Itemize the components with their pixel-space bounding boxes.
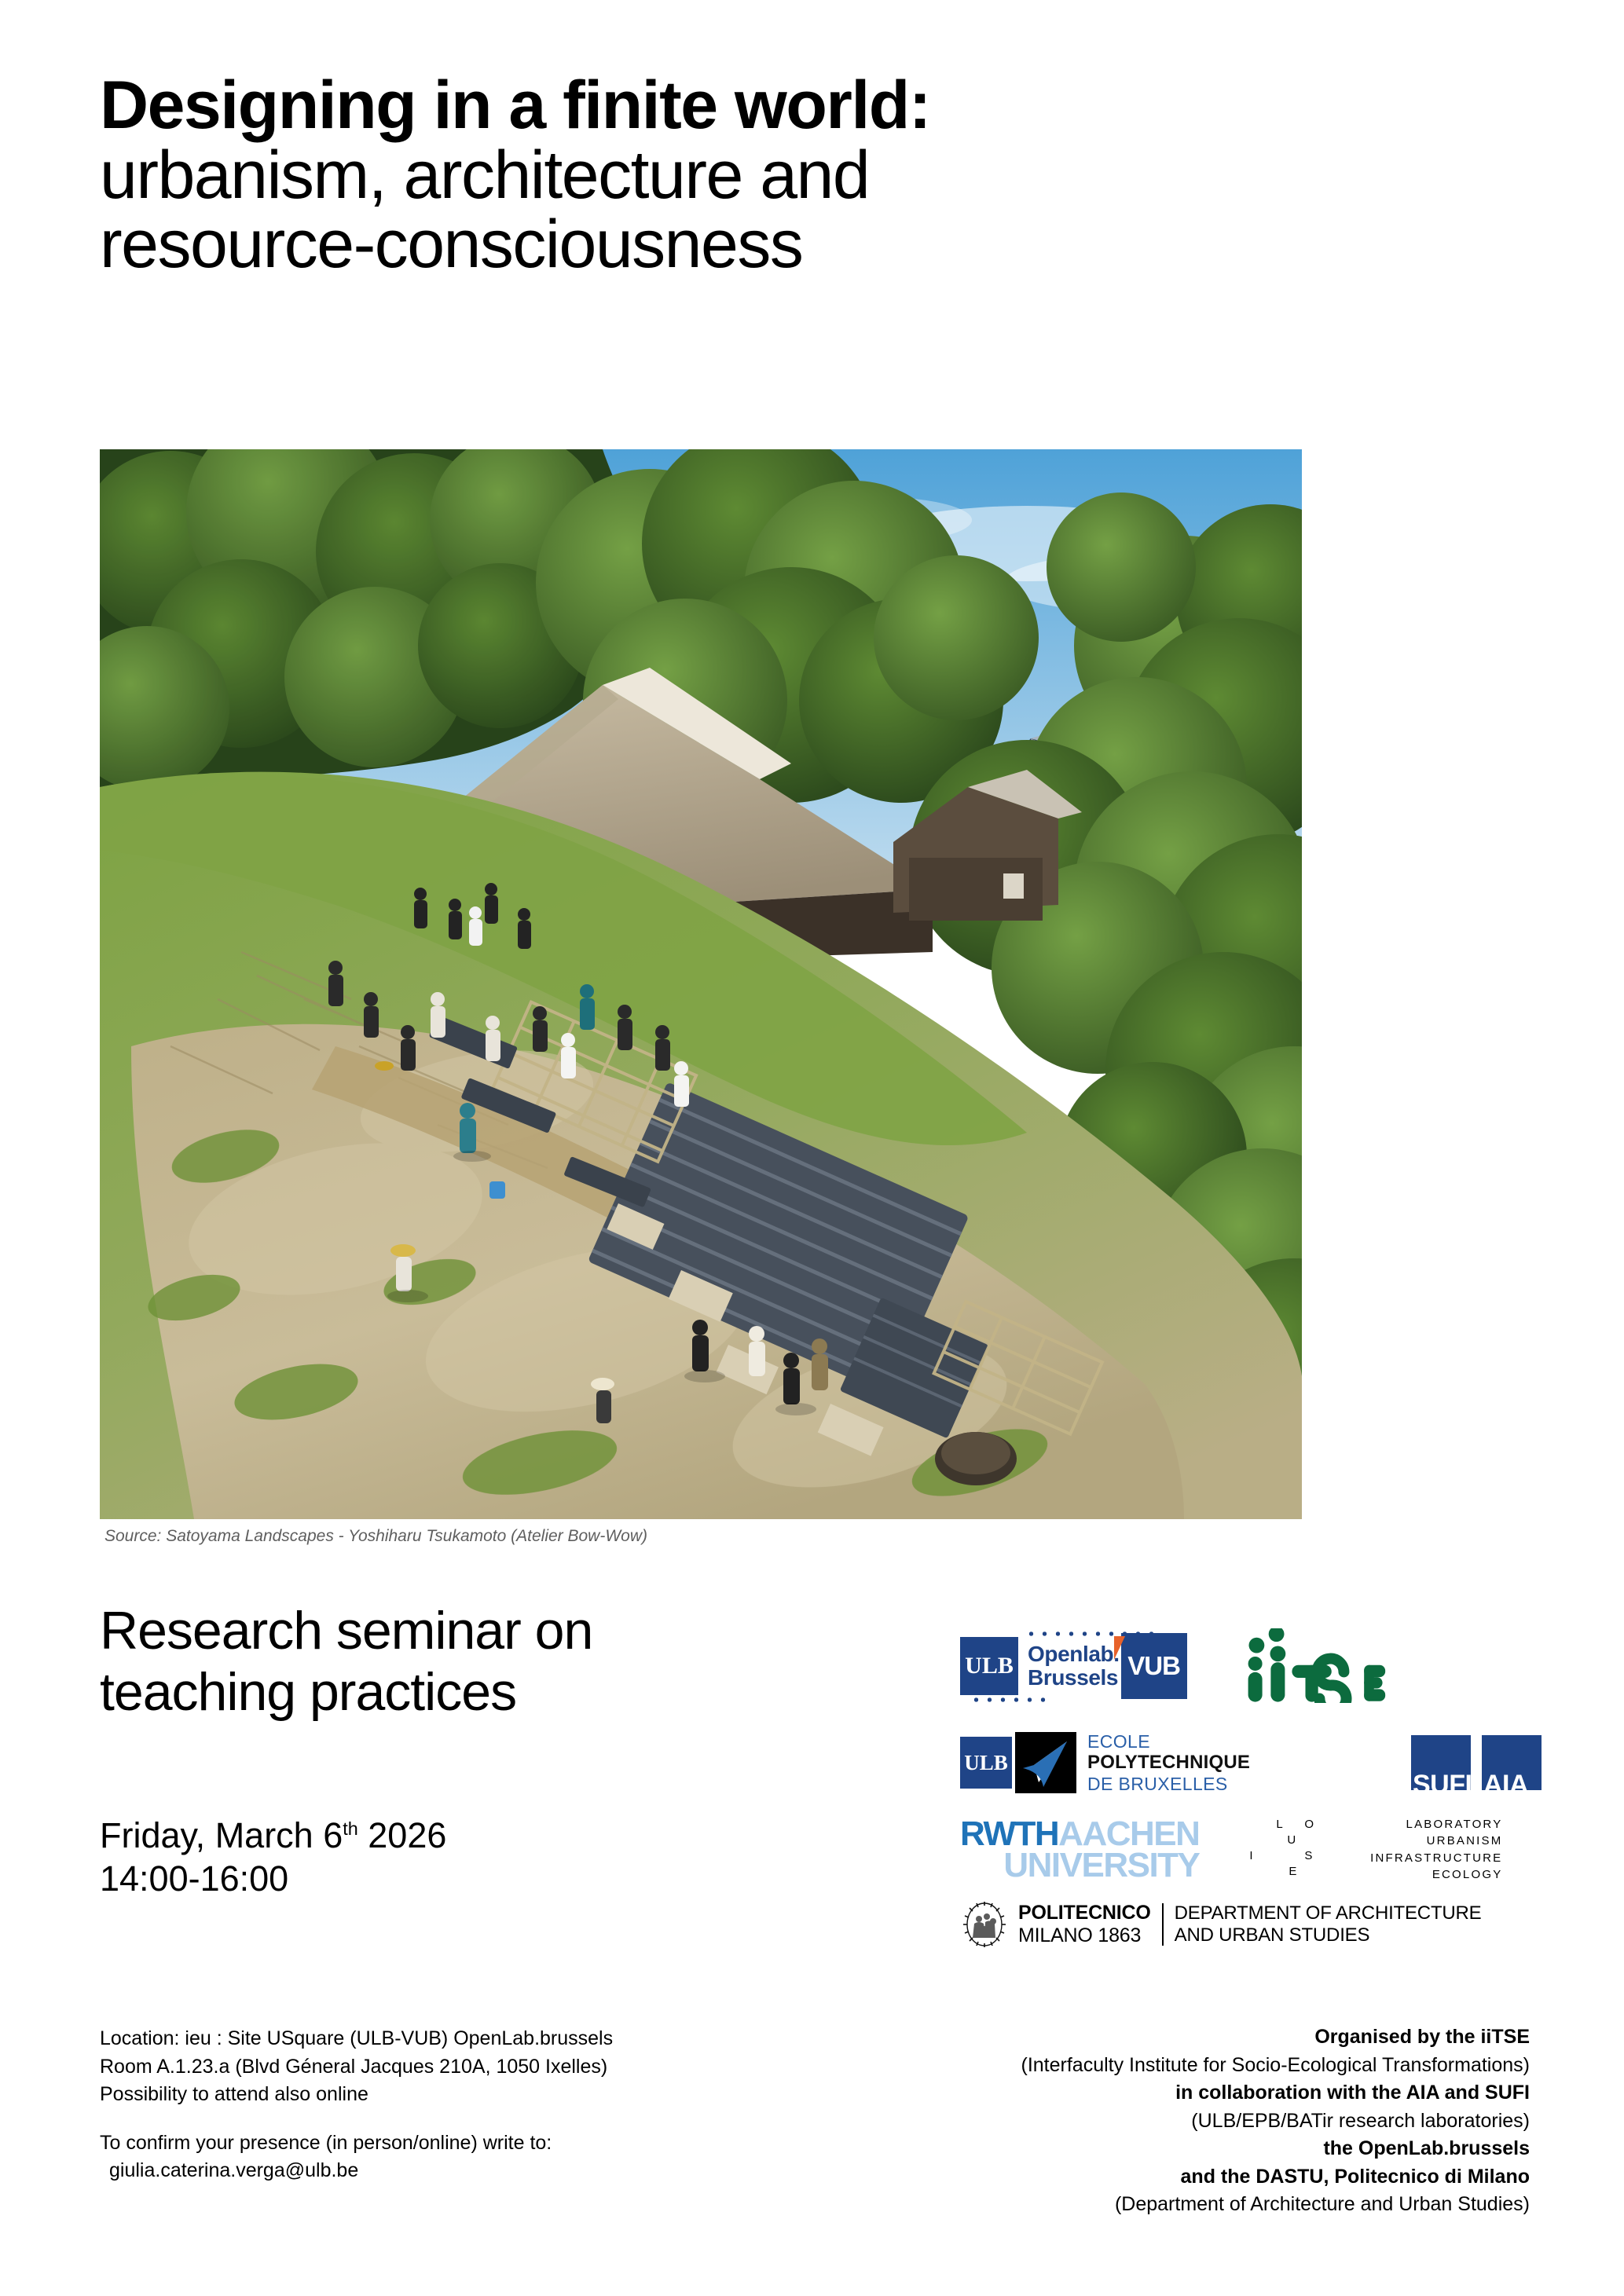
louise-word-infrastructure: INFRASTRUCTURE	[1337, 1850, 1502, 1866]
vub-logo: VUB	[1121, 1633, 1187, 1699]
title-line-1: Designing in a finite world:	[100, 71, 1435, 141]
event-time: 14:00-16:00	[100, 1858, 446, 1901]
location-line-2: Room A.1.23.a (Blvd Géneral Jacques 210A…	[100, 2053, 613, 2082]
location-contact-block: Location: ieu : Site USquare (ULB-VUB) O…	[100, 2025, 613, 2185]
dotted-border-bottom	[970, 1697, 1054, 1702]
title-line-3: resource-consciousness	[100, 210, 1435, 280]
organiser-line-5: the OpenLab.brussels	[1021, 2135, 1531, 2163]
organiser-line-6: and the DASTU, Politecnico di Milano	[1021, 2163, 1531, 2192]
logo-row-rwth-louise: RWTHAACHEN UNIVERSITY L O U I S E LABORA…	[960, 1812, 1542, 1888]
satoyama-photo	[100, 449, 1302, 1519]
louise-letter-U: U	[1287, 1833, 1297, 1847]
contact-email[interactable]: giulia.caterina.verga@ulb.be	[100, 2157, 613, 2185]
photo-image	[100, 449, 1302, 1519]
date-time-block: Friday, March 6th 2026 14:00-16:00	[100, 1814, 446, 1901]
sufi-logo: SUFI	[1411, 1735, 1471, 1790]
dastu-line-1: DEPARTMENT OF ARCHITECTURE	[1175, 1902, 1482, 1924]
page-title: Designing in a finite world: urbanism, a…	[100, 71, 1435, 280]
dastu-text: DEPARTMENT OF ARCHITECTURE AND URBAN STU…	[1175, 1902, 1482, 1946]
louise-letter-E: E	[1289, 1865, 1298, 1878]
vub-label: VUB	[1127, 1651, 1180, 1681]
sufi-label: SUFI	[1413, 1771, 1472, 1798]
organiser-line-1: Organised by the iiTSE	[1021, 2023, 1531, 2052]
confirm-instruction: To confirm your presence (in person/onli…	[100, 2129, 613, 2158]
ulb-logo-1: ULB	[960, 1637, 1018, 1695]
openlab-brussels-logo: Openlab. Brussels	[1020, 1631, 1124, 1701]
ecole-line-1: ECOLE	[1087, 1731, 1250, 1752]
location-line-3: Possibility to attend also online	[100, 2081, 613, 2109]
divider	[1162, 1903, 1164, 1946]
rwth-aachen-logo: RWTHAACHEN UNIVERSITY	[960, 1818, 1199, 1882]
ecole-polytechnique-text: ECOLE POLYTECHNIQUE DE BRUXELLES	[1087, 1731, 1250, 1794]
seminar-heading: Research seminar on teaching practices	[100, 1601, 901, 1723]
event-date-year: 2026	[358, 1815, 447, 1855]
organiser-line-2: (Interfaculty Institute for Socio-Ecolog…	[1021, 2052, 1531, 2080]
university-label: UNIVERSITY	[960, 1850, 1199, 1881]
vub-orange-accent-icon	[1114, 1636, 1125, 1660]
title-line-2: urbanism, architecture and	[100, 141, 1435, 211]
ulb-logo-2: ULB	[960, 1737, 1012, 1789]
dastu-line-2: AND URBAN STUDIES	[1175, 1924, 1482, 1946]
seminar-line-1: Research seminar on	[100, 1601, 901, 1662]
photo-caption: Source: Satoyama Landscapes - Yoshiharu …	[104, 1527, 647, 1546]
iitse-mark-icon	[1245, 1628, 1387, 1703]
logo-cluster: ULB Openlab. Brussels VUB	[960, 1622, 1542, 1954]
seminar-line-2: teaching practices	[100, 1662, 901, 1723]
louise-logo: L O U I S E LABORATORY URBANISM INFRASTR…	[1243, 1816, 1502, 1884]
logo-row-politecnico: POLITECNICO MILANO 1863 DEPARTMENT OF AR…	[960, 1895, 1542, 1954]
event-date: Friday, March 6th 2026	[100, 1814, 446, 1858]
openlab-line-1: Openlab.	[1028, 1642, 1120, 1666]
politecnico-text: POLITECNICO MILANO 1863	[1018, 1902, 1151, 1947]
louise-word-laboratory: LABORATORY	[1337, 1816, 1502, 1833]
organiser-line-3: in collaboration with the AIA and SUFI	[1021, 2079, 1531, 2107]
louise-letter-I: I	[1249, 1849, 1254, 1862]
politecnico-line-1: POLITECNICO	[1018, 1902, 1151, 1924]
louise-word-ecology: ECOLOGY	[1337, 1866, 1502, 1883]
louise-acronym: L O U I S E	[1243, 1816, 1337, 1884]
logo-row-openlab-iitse: ULB Openlab. Brussels VUB	[960, 1622, 1542, 1710]
ecole-polytechnique-mark-icon	[1015, 1732, 1076, 1793]
louise-letter-S: S	[1304, 1849, 1314, 1862]
openlab-line-2: Brussels	[1028, 1666, 1120, 1690]
ecole-line-3: DE BRUXELLES	[1087, 1774, 1250, 1794]
event-date-prefix: Friday, March 6	[100, 1815, 343, 1855]
logo-row-polytechnique: ULB ECOLE POLYTECHNIQUE DE BRUXELLES SUF…	[960, 1724, 1542, 1801]
louise-letter-O: O	[1304, 1818, 1315, 1831]
politecnico-line-2: MILANO 1863	[1018, 1924, 1151, 1947]
louise-word-urbanism: URBANISM	[1337, 1833, 1502, 1849]
iitse-logo	[1245, 1628, 1387, 1704]
aia-logo: AIA	[1482, 1735, 1542, 1790]
louise-words: LABORATORY URBANISM INFRASTRUCTURE ECOLO…	[1337, 1816, 1502, 1884]
organiser-line-7: (Department of Architecture and Urban St…	[1021, 2191, 1531, 2219]
spacer	[100, 2109, 613, 2129]
organiser-block: Organised by the iiTSE (Interfaculty Ins…	[1021, 2023, 1531, 2219]
organiser-line-4: (ULB/EPB/BATir research laboratories)	[1021, 2107, 1531, 2136]
location-line-1: Location: ieu : Site USquare (ULB-VUB) O…	[100, 2025, 613, 2053]
aia-label: AIA	[1483, 1771, 1528, 1798]
politecnico-seal-icon	[960, 1900, 1009, 1949]
ecole-line-2: POLYTECHNIQUE	[1087, 1752, 1250, 1773]
louise-letter-L: L	[1276, 1818, 1285, 1831]
event-date-ordinal: th	[343, 1818, 358, 1839]
